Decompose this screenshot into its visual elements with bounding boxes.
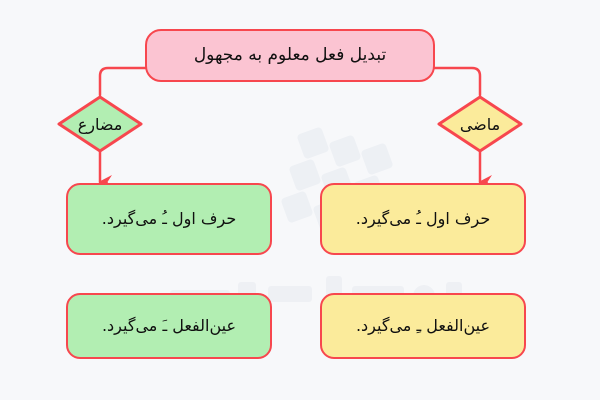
edge-title-to-present [100,68,145,95]
node-present-result-1-label: حرف اول ـُ می‌گیرد. [102,208,236,230]
node-past-result-1: حرف اول ـُ می‌گیرد. [320,183,526,255]
node-decision-past: ماضی [436,94,524,154]
node-present-result-1: حرف اول ـُ می‌گیرد. [66,183,272,255]
node-present-result-2: عین‌الفعل ـَ می‌گیرد. [66,293,272,359]
node-decision-present: مضارع [56,94,144,154]
node-past-result-2-label: عین‌الفعل ـِ می‌گیرد. [356,315,490,337]
node-decision-present-label: مضارع [78,115,123,134]
node-past-result-2: عین‌الفعل ـِ می‌گیرد. [320,293,526,359]
node-title: تبدیل فعل معلوم به مجهول [145,29,435,82]
edge-title-to-past [435,68,480,95]
node-past-result-1-label: حرف اول ـُ می‌گیرد. [356,208,490,230]
diagram-canvas: تبدیل فعل معلوم به مجهول مضارع ماضی حرف … [0,0,600,400]
node-present-result-2-label: عین‌الفعل ـَ می‌گیرد. [102,315,236,337]
node-decision-past-label: ماضی [460,115,500,134]
node-title-label: تبدیل فعل معلوم به مجهول [194,44,386,67]
